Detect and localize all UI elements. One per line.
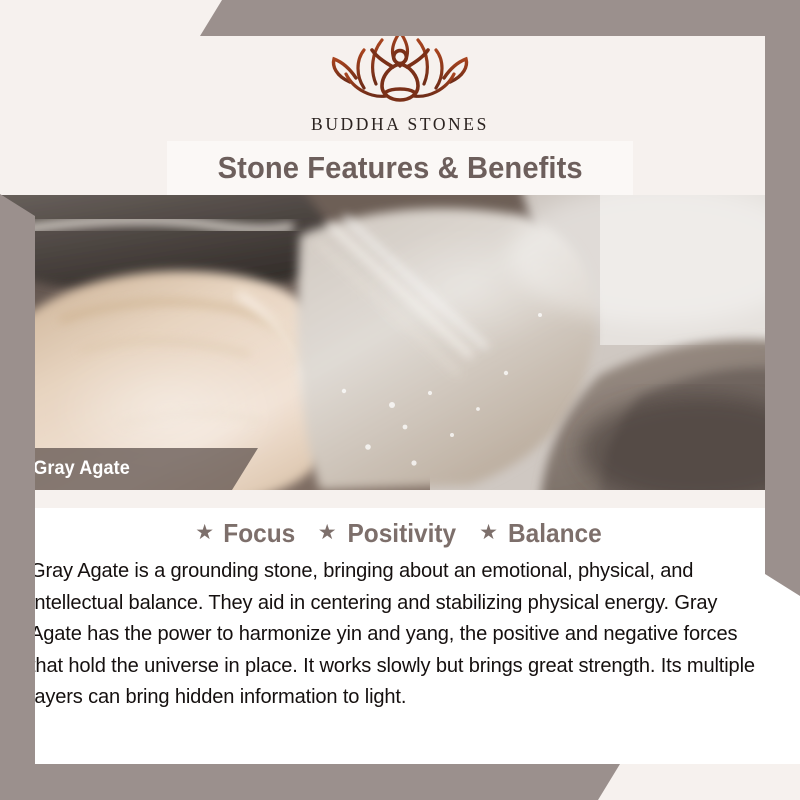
keyword-item-focus: ★ Focus — [195, 518, 297, 549]
keyword-label: Focus — [223, 518, 295, 549]
stone-name-banner: Gray Agate — [0, 448, 258, 490]
keyword-label: Positivity — [347, 518, 456, 549]
keyword-label: Balance — [508, 518, 602, 549]
stone-photo — [0, 195, 800, 490]
description-panel: ★ Focus ★ Positivity ★ Balance Gray Agat… — [0, 490, 800, 800]
star-icon: ★ — [318, 522, 337, 543]
keyword-row: ★ Focus ★ Positivity ★ Balance — [0, 518, 800, 549]
keyword-item-balance: ★ Balance — [479, 518, 605, 549]
stone-info-card: BUDDHA STONES Stone Features & Benefits — [0, 0, 800, 800]
panel-top-strip — [0, 490, 800, 508]
star-icon: ★ — [195, 522, 214, 543]
panel-bottom-strip — [0, 764, 800, 800]
stone-name-label: Gray Agate — [0, 458, 130, 480]
lotus-meditating-figure-icon — [320, 26, 480, 112]
keyword-item-positivity: ★ Positivity — [318, 518, 459, 549]
stone-photo-graphic — [0, 195, 800, 490]
page-title-band: Stone Features & Benefits — [167, 141, 633, 195]
page-title: Stone Features & Benefits — [217, 150, 582, 186]
brand-name: BUDDHA STONES — [311, 114, 489, 135]
stone-description: Gray Agate is a grounding stone, bringin… — [30, 556, 767, 714]
star-icon: ★ — [479, 522, 498, 543]
